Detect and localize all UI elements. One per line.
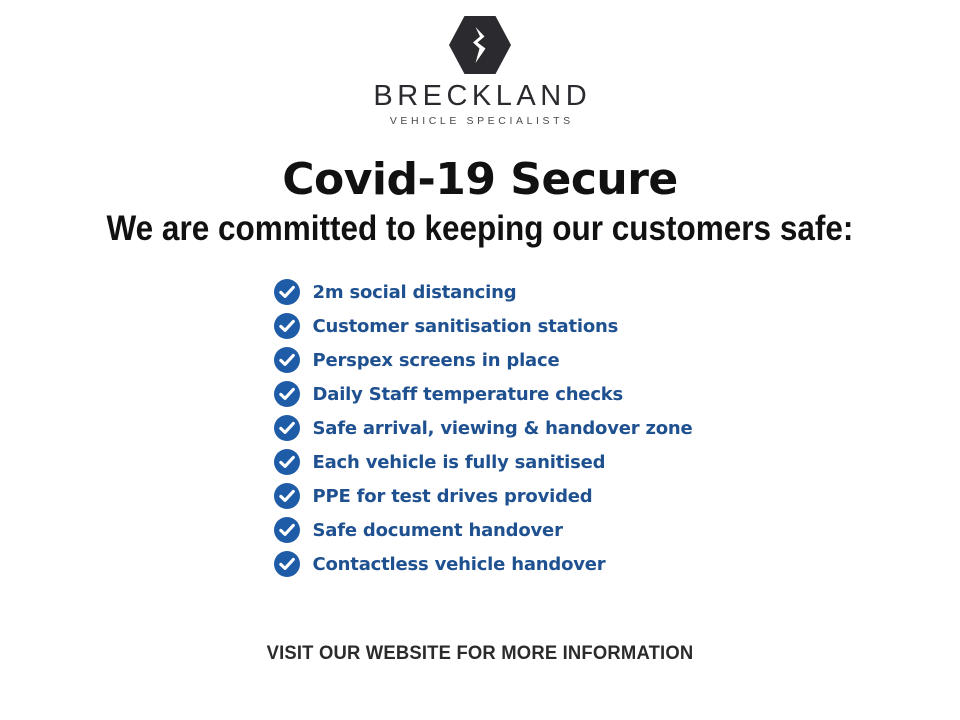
check-circle-icon <box>274 381 300 407</box>
list-item-label: Safe document handover <box>313 520 563 541</box>
brand-block: BRECKLAND VEHICLE SPECIALISTS <box>369 14 591 127</box>
list-item-label: Customer sanitisation stations <box>313 316 619 337</box>
list-item: Safe document handover <box>274 513 714 547</box>
page-title: Covid-19 Secure <box>282 157 678 203</box>
list-item: Each vehicle is fully sanitised <box>274 445 714 479</box>
list-item-label: Daily Staff temperature checks <box>313 384 624 405</box>
list-item-label: Safe arrival, viewing & handover zone <box>313 418 693 439</box>
brand-tagline: VEHICLE SPECIALISTS <box>386 116 574 127</box>
check-circle-icon <box>274 347 300 373</box>
footer-callout: VISIT OUR WEBSITE FOR MORE INFORMATION <box>14 643 945 665</box>
covid-secure-poster: BRECKLAND VEHICLE SPECIALISTS Covid-19 S… <box>0 0 960 720</box>
check-circle-icon <box>274 517 300 543</box>
page-subtitle: We are committed to keeping our customer… <box>107 211 854 248</box>
list-item-label: Perspex screens in place <box>313 350 560 371</box>
breckland-hexagon-logo-icon <box>449 14 511 76</box>
list-item-label: PPE for test drives provided <box>313 486 593 507</box>
list-item: Safe arrival, viewing & handover zone <box>274 411 714 445</box>
check-circle-icon <box>274 449 300 475</box>
check-circle-icon <box>274 551 300 577</box>
check-circle-icon <box>274 313 300 339</box>
check-circle-icon <box>274 483 300 509</box>
brand-name: BRECKLAND <box>369 82 591 111</box>
list-item: Daily Staff temperature checks <box>274 377 714 411</box>
check-circle-icon <box>274 415 300 441</box>
list-item: 2m social distancing <box>274 275 714 309</box>
check-circle-icon <box>274 279 300 305</box>
list-item-label: Each vehicle is fully sanitised <box>313 452 606 473</box>
list-item-label: 2m social distancing <box>313 282 517 303</box>
list-item: PPE for test drives provided <box>274 479 714 513</box>
list-item: Contactless vehicle handover <box>274 547 714 581</box>
list-item: Customer sanitisation stations <box>274 309 714 343</box>
safety-measures-list: 2m social distancing Customer sanitisati… <box>274 275 714 581</box>
list-item-label: Contactless vehicle handover <box>313 554 606 575</box>
list-item: Perspex screens in place <box>274 343 714 377</box>
